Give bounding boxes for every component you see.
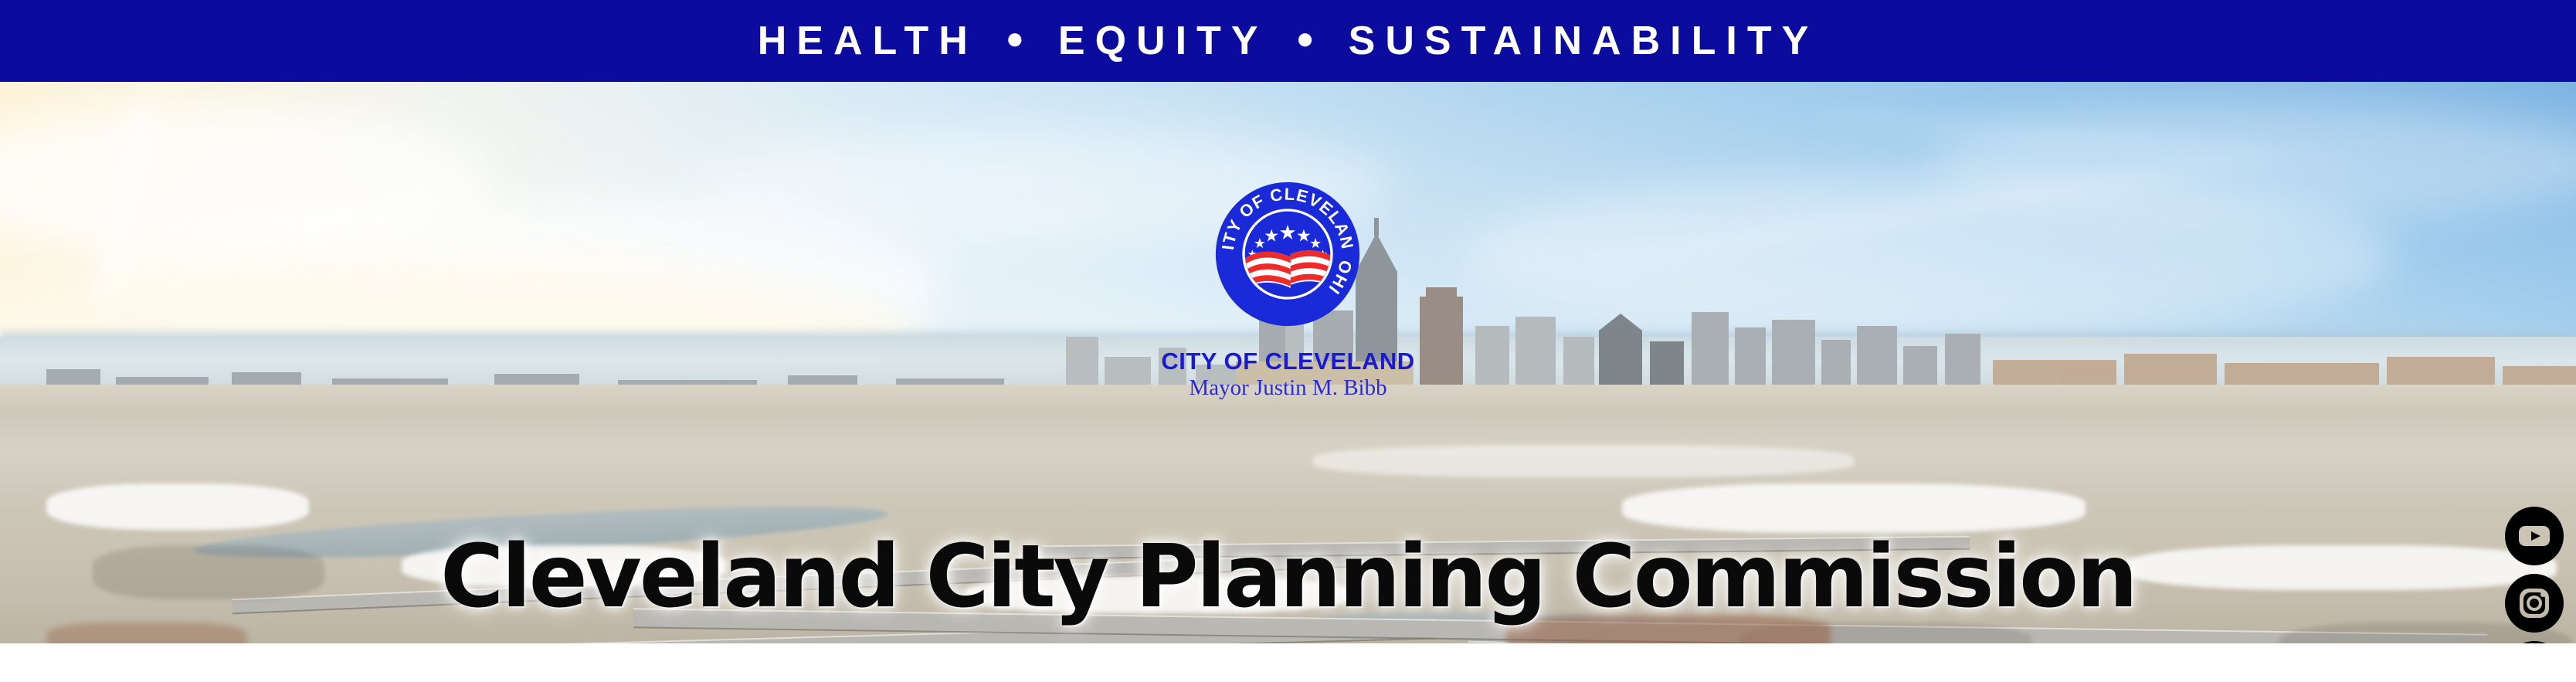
branding-city: CITY OF CLEVELAND [0,349,2576,373]
tagline-separator-2: ● [1296,23,1315,54]
tagline-sustainability: SUSTAINABILITY [1349,21,1819,61]
city-of-cleveland-seal: CITY OF CLEVELAND OHIO [1214,181,1361,327]
facebook-icon[interactable] [2503,640,2565,643]
tagline-equity: EQUITY [1058,21,1268,61]
social-links [2500,505,2568,643]
tagline-banner: HEALTH ● EQUITY ● SUSTAINABILITY [0,0,2576,82]
tagline-health: HEALTH [758,21,978,61]
youtube-icon[interactable] [2503,505,2565,567]
snow-patch-6 [1313,445,1854,477]
snow-patch-4 [1622,484,2086,533]
tagline-separator-1: ● [1006,23,1024,54]
page-title: Cleveland City Planning Commission [0,534,2576,620]
instagram-icon[interactable] [2503,572,2565,634]
snow-patch-1 [46,484,309,530]
page-root: HEALTH ● EQUITY ● SUSTAINABILITY [0,0,2576,682]
industrial-yard-2 [46,623,247,643]
tagline-banner-inner: HEALTH ● EQUITY ● SUSTAINABILITY [758,21,1819,61]
branding-mayor: Mayor Justin M. Bibb [0,377,2576,399]
hero-photo: CITY OF CLEVELAND OHIO [0,82,2576,643]
